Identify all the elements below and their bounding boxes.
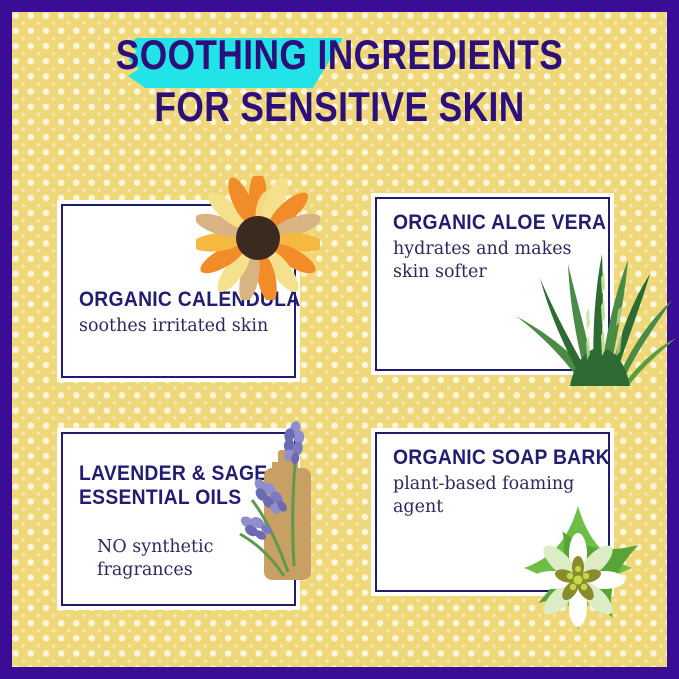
card-body-text: soothes irritated skin xyxy=(79,315,284,338)
card-text-block: ORGANIC CALENDULA soothes irritated skin xyxy=(79,288,284,338)
card-heading: ORGANIC ALOE VERA xyxy=(393,211,582,235)
infographic-poster: SOOTHING INGREDIENTS FOR SENSITIVE SKIN … xyxy=(0,0,679,679)
card-heading-line-1: LAVENDER & SAGE xyxy=(79,462,268,486)
card-text-block: LAVENDER & SAGE ESSENTIAL OILS NO synthe… xyxy=(79,462,284,581)
title-line-1: SOOTHING INGREDIENTS xyxy=(54,34,624,76)
card-organic-aloe-vera: ORGANIC ALOE VERA hydrates and makes ski… xyxy=(371,193,614,375)
card-text-block: ORGANIC SOAP BARK plant-based foaming ag… xyxy=(393,446,598,518)
title-line-2: FOR SENSITIVE SKIN xyxy=(54,86,624,128)
card-organic-calendula: ORGANIC CALENDULA soothes irritated skin xyxy=(57,200,300,382)
card-body-text: hydrates and makes skin softer xyxy=(393,238,598,284)
page-title: SOOTHING INGREDIENTS FOR SENSITIVE SKIN xyxy=(0,34,679,128)
card-heading-line-2: ESSENTIAL OILS xyxy=(79,486,268,510)
card-organic-soap-bark: ORGANIC SOAP BARK plant-based foaming ag… xyxy=(371,428,614,596)
card-heading: ORGANIC CALENDULA xyxy=(79,288,268,312)
card-text-block: ORGANIC ALOE VERA hydrates and makes ski… xyxy=(393,211,598,283)
card-lavender-and-sage: LAVENDER & SAGE ESSENTIAL OILS NO synthe… xyxy=(57,428,300,610)
card-body-text: plant-based foaming agent xyxy=(393,473,598,519)
card-body-text: NO synthetic fragrances xyxy=(97,536,284,582)
card-heading: ORGANIC SOAP BARK xyxy=(393,446,582,470)
